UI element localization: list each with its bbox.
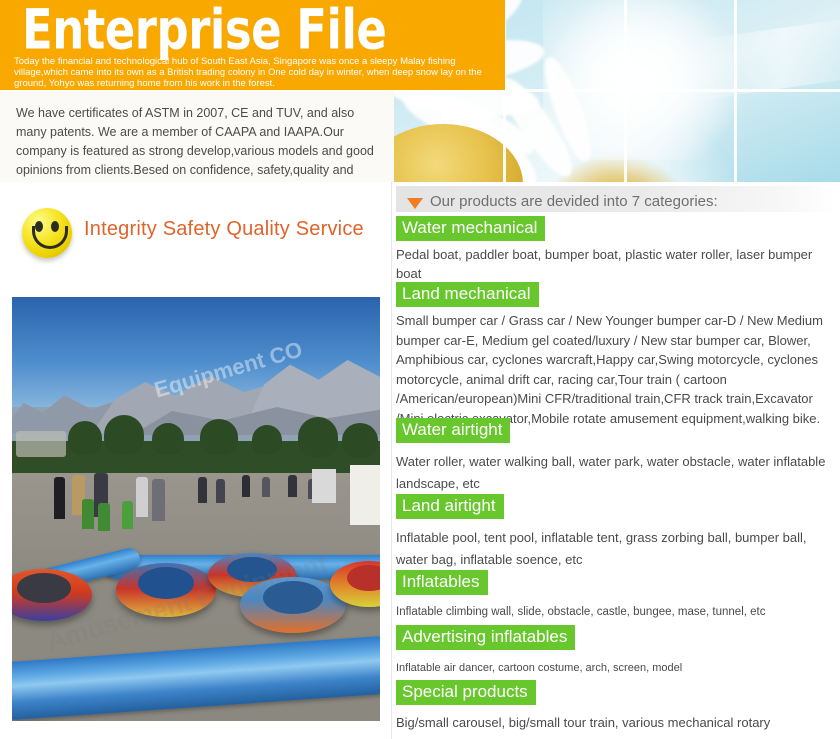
category-body: Inflatable pool, tent pool, inflatable t… — [396, 527, 836, 571]
hero-paragraph: We have certificates of ASTM in 2007, CE… — [16, 104, 388, 182]
category-body: Big/small carousel, big/small tour train… — [396, 713, 836, 733]
product-photo: Amusement Equipment Equipment CO — [12, 297, 380, 721]
category-body: Pedal boat, paddler boat, bumper boat, p… — [396, 245, 836, 283]
category-label: Water airtight — [396, 418, 510, 443]
hero-section: Enterprise File Today the financial and … — [0, 0, 840, 182]
category-label: Water mechanical — [396, 216, 545, 241]
smiley-face-icon — [22, 208, 72, 258]
right-column: Our products are devided into 7 categori… — [392, 182, 840, 739]
category-label: Advertising inflatables — [396, 625, 575, 650]
triangle-down-icon — [407, 198, 423, 209]
category-special-products[interactable]: Special products Big/small carousel, big… — [396, 680, 836, 733]
inflatable-pool-near-rail — [12, 634, 380, 721]
category-water-airtight[interactable]: Water airtight Water roller, water walki… — [396, 418, 836, 495]
category-land-mechanical[interactable]: Land mechanical Small bumper car / Grass… — [396, 282, 836, 428]
photo-plaza-ground — [12, 473, 380, 721]
category-body: Inflatable climbing wall, slide, obstacl… — [396, 603, 836, 621]
bumper-boat — [116, 563, 216, 617]
category-advertising-inflatables[interactable]: Advertising inflatables Inflatable air d… — [396, 625, 836, 677]
category-land-airtight[interactable]: Land airtight Inflatable pool, tent pool… — [396, 494, 836, 571]
category-label: Land mechanical — [396, 282, 539, 307]
category-body: Small bumper car / Grass car / New Young… — [396, 311, 836, 428]
category-label: Land airtight — [396, 494, 504, 519]
company-slogan: Integrity Safety Quality Service — [84, 218, 364, 241]
category-body: Water roller, water walking ball, water … — [396, 451, 836, 495]
product-catalog-page: Enterprise File Today the financial and … — [0, 0, 840, 739]
category-label: Inflatables — [396, 570, 488, 595]
category-inflatables[interactable]: Inflatables Inflatable climbing wall, sl… — [396, 570, 836, 621]
slogan-row: Integrity Safety Quality Service — [0, 208, 392, 268]
category-label: Special products — [396, 680, 536, 705]
category-water-mechanical[interactable]: Water mechanical Pedal boat, paddler boa… — [396, 216, 836, 283]
left-column: Integrity Safety Quality Service — [0, 182, 392, 739]
categories-header-text: Our products are devided into 7 categori… — [430, 193, 718, 210]
page-title: Enterprise File — [22, 2, 386, 58]
hero-subtitle: Today the financial and technological hu… — [14, 56, 496, 89]
category-body: Inflatable air dancer, cartoon costume, … — [396, 659, 836, 677]
categories-header-bar: Our products are devided into 7 categori… — [396, 186, 836, 212]
